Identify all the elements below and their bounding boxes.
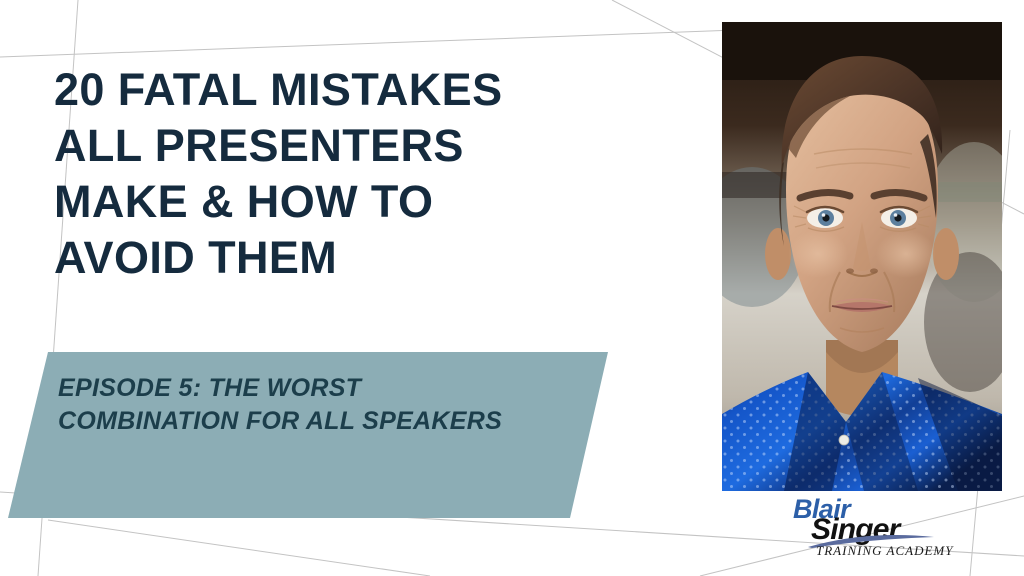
title-line-1: 20 FATAL MISTAKES <box>54 62 674 118</box>
page-title: 20 FATAL MISTAKES ALL PRESENTERS MAKE & … <box>54 62 674 286</box>
title-line-3: MAKE & HOW TO <box>54 174 674 230</box>
logo-tagline: TRAINING ACADEMY <box>816 543 953 558</box>
title-line-2: ALL PRESENTERS <box>54 118 674 174</box>
subtitle-text: EPISODE 5: THE WORST COMBINATION FOR ALL… <box>58 372 578 438</box>
presentation-slide: 20 FATAL MISTAKES ALL PRESENTERS MAKE & … <box>0 0 1024 576</box>
title-line-4: AVOID THEM <box>54 230 674 286</box>
subtitle-banner: EPISODE 5: THE WORST COMBINATION FOR ALL… <box>0 340 640 540</box>
speaker-portrait-photo <box>722 22 1002 491</box>
brand-logo: Blair Singer TRAINING ACADEMY <box>786 496 938 558</box>
portrait-illustration <box>722 22 1002 491</box>
hairline-diagonal-top <box>0 30 736 57</box>
subtitle-line-1: EPISODE 5: THE WORST <box>58 372 578 405</box>
banner-parallelogram-shape <box>0 340 640 540</box>
subtitle-line-2: COMBINATION FOR ALL SPEAKERS <box>58 405 578 438</box>
